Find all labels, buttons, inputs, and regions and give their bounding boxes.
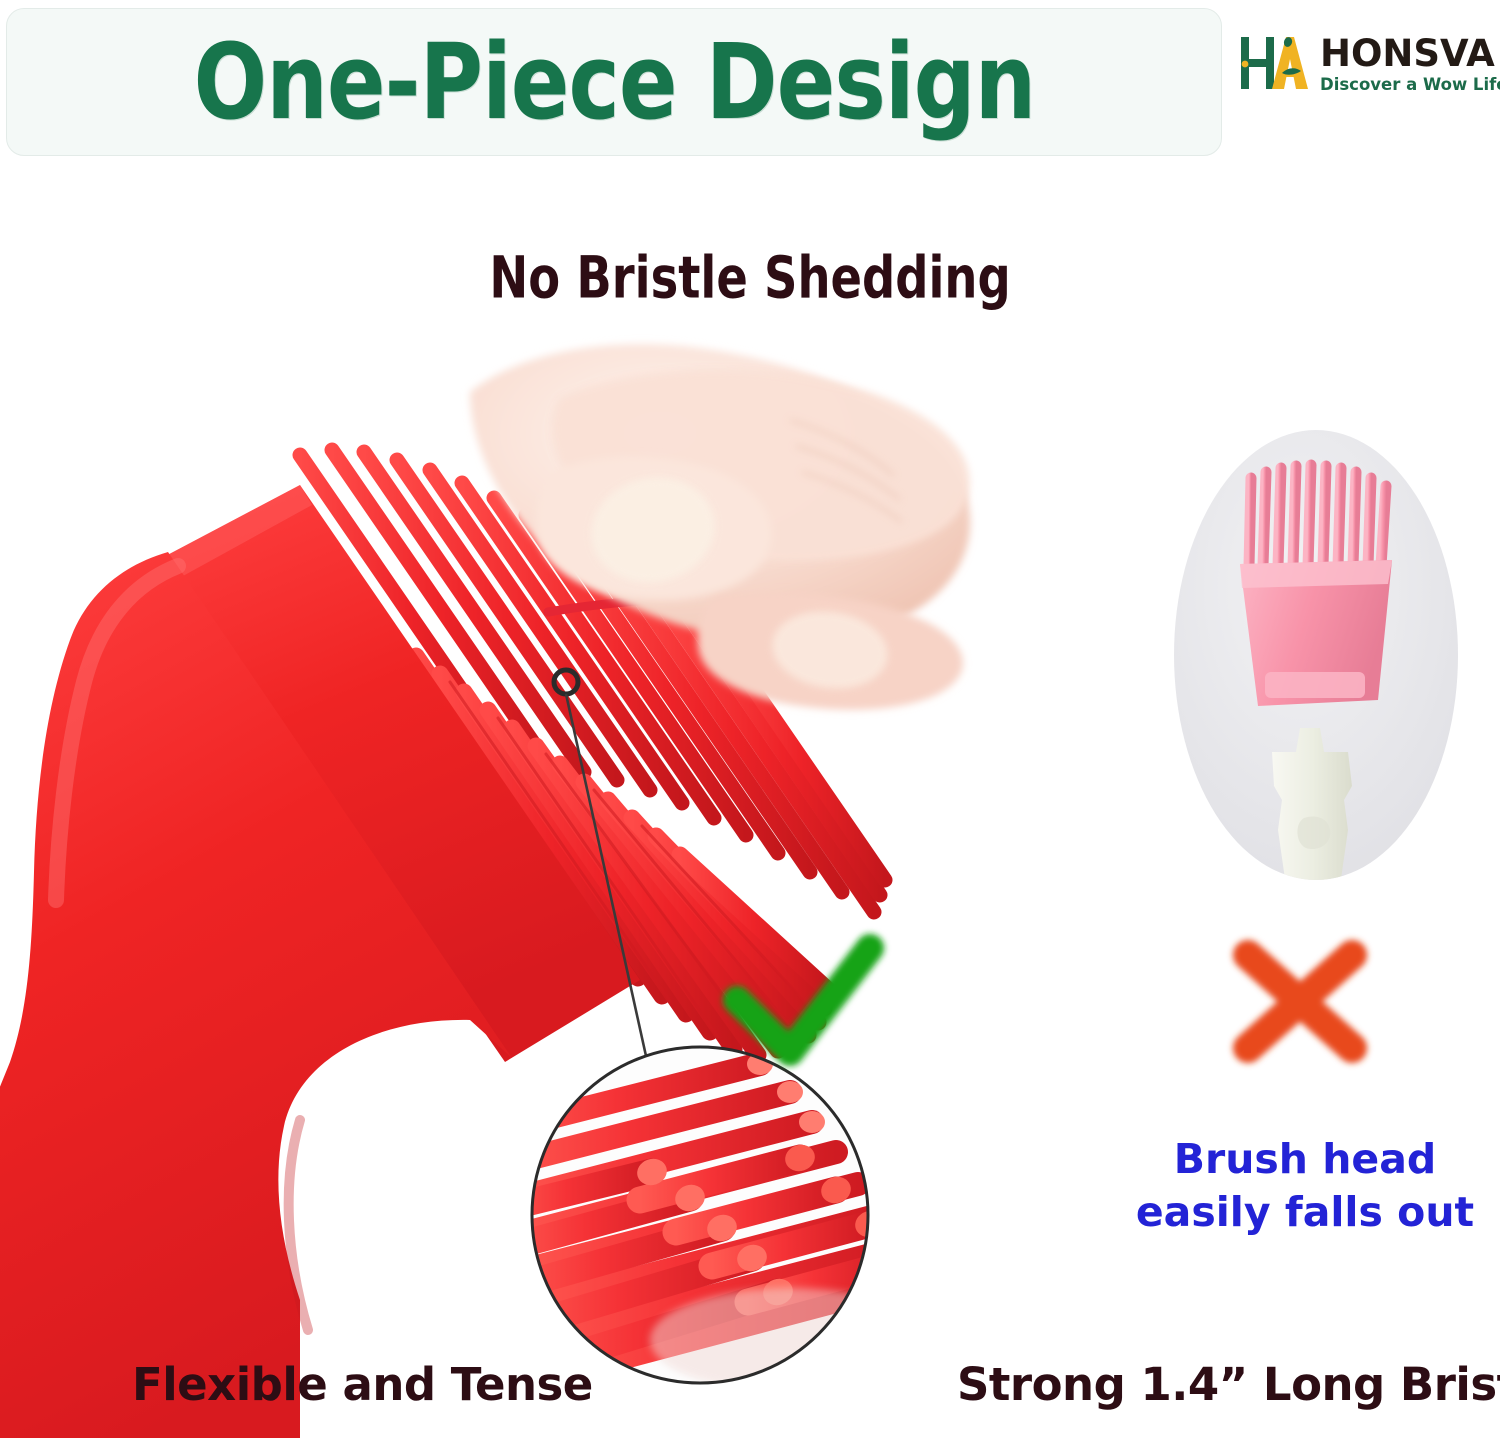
cross-mark-icon <box>1248 955 1352 1048</box>
brand-logo: HONSVA Discover a Wow Life <box>1238 24 1488 104</box>
brand-name: HONSVA <box>1320 35 1500 72</box>
product-infographic: One-Piece Design HONSVA Discover a Wow L… <box>0 0 1500 1438</box>
page-title: One-Piece Design <box>193 30 1035 134</box>
caption-flexible-and-tense: Flexible and Tense <box>132 1358 593 1411</box>
falls-out-caption-line2: easily falls out <box>1110 1186 1500 1239</box>
hand-pulling-bristle <box>470 344 970 710</box>
ha-monogram-icon <box>1238 31 1312 97</box>
loose-brush-head-inset <box>1174 430 1458 1010</box>
brand-wordmark: HONSVA Discover a Wow Life <box>1320 35 1500 94</box>
caption-strong-long-bristle: Strong 1.4” Long Bristle <box>957 1358 1500 1411</box>
falls-out-caption-line1: Brush head <box>1110 1133 1500 1186</box>
falls-out-caption: Brush head easily falls out <box>1110 1133 1500 1240</box>
headline-banner: One-Piece Design <box>6 8 1222 156</box>
bristle-zoom-circle <box>498 1047 930 1392</box>
brand-tagline: Discover a Wow Life <box>1320 77 1500 94</box>
